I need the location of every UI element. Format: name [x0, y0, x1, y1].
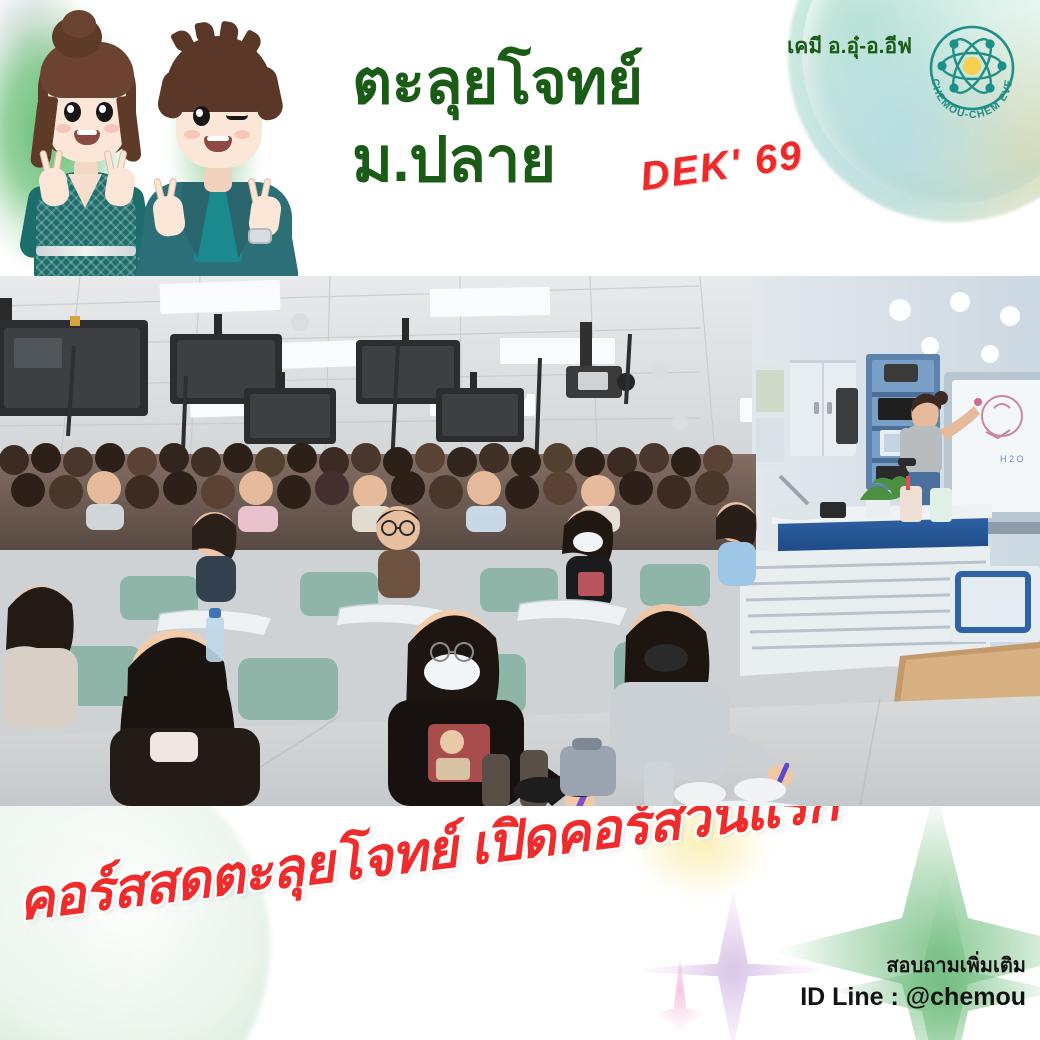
svg-text:CHEMOU-CHEM EVE: CHEMOU-CHEM EVE — [929, 78, 1015, 121]
svg-text:H 2 O: H 2 O — [1000, 454, 1024, 464]
atom-logo: CHEMOU-CHEM EVE — [918, 16, 1026, 124]
classroom-photo: ห้องเรียนติวเคมีเต็มไปด้วยนักเรียนกำลังท… — [0, 276, 1040, 806]
contact-prompt: สอบถามเพิ่มเติม — [800, 952, 1026, 980]
contact-block: สอบถามเพิ่มเติม ID Line : @chemou — [800, 952, 1026, 1014]
contact-line-id[interactable]: ID Line : @chemou — [800, 980, 1026, 1014]
title-line-1: ตะลุยโจทย์ — [352, 44, 822, 122]
footer-band: คอร์สสดตะลุยโจทย์ เปิดคอร์สวันแรก สอบถาม… — [0, 806, 1040, 1040]
header-band: ตะลุยโจทย์ ม.ปลาย DEK' 69 เคมี อ.อุ๋-อ.อ… — [0, 0, 1040, 276]
poster-title: ตะลุยโจทย์ ม.ปลาย DEK' 69 — [352, 44, 822, 200]
mascot-group — [6, 6, 306, 276]
brand-name: เคมี อ.อุ๋-อ.อีฟ — [787, 30, 912, 63]
mascot-teacher-eve — [138, 16, 298, 276]
mascot-teacher-ou — [16, 10, 156, 276]
promo-poster: ตะลุยโจทย์ ม.ปลาย DEK' 69 เคมี อ.อุ๋-อ.อ… — [0, 0, 1040, 1040]
